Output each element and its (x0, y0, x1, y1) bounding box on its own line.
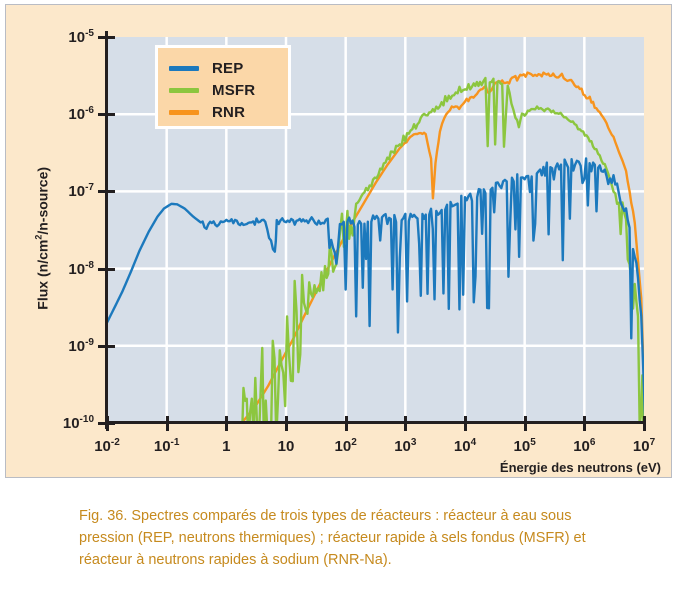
x-axis-tick-label: 10-1 (154, 437, 180, 455)
legend-item-rep[interactable]: REP (158, 57, 288, 79)
y-tick-mantissa: 10 (68, 29, 85, 46)
x-tick-exponent: 4 (471, 437, 477, 448)
x-axis-tick (643, 416, 646, 431)
curve-rep (107, 158, 644, 423)
chart-panel: 10-510-610-710-810-910-10 10-210-1110102… (5, 4, 672, 478)
y-tick-exponent: -7 (85, 182, 94, 193)
y-axis-tick-label: 10-6 (68, 105, 94, 123)
legend-label: REP (212, 60, 243, 77)
y-axis-title-exponent: 2 (34, 235, 44, 240)
x-tick-mantissa: 10 (633, 438, 650, 455)
legend-color-swatch (169, 66, 199, 71)
y-tick-exponent: -6 (85, 105, 94, 116)
y-tick-mantissa: 10 (68, 261, 85, 278)
y-tick-exponent: -9 (85, 337, 94, 348)
y-tick-exponent: -5 (85, 28, 94, 39)
y-axis-tick (98, 113, 115, 116)
x-axis-tick (583, 416, 586, 431)
x-axis-tick-label: 1 (222, 437, 230, 455)
x-axis-tick (285, 416, 288, 431)
x-tick-mantissa: 10 (514, 438, 531, 455)
x-axis-tick (524, 416, 527, 431)
x-tick-mantissa: 10 (154, 438, 171, 455)
x-axis-tick (225, 416, 228, 431)
y-axis-tick (98, 36, 115, 39)
x-axis-tick-label: 10 (278, 437, 295, 455)
y-axis-line (105, 31, 108, 429)
legend-label: RNR (212, 104, 245, 121)
y-tick-mantissa: 10 (63, 415, 80, 432)
x-axis-tick-label: 10-2 (94, 437, 120, 455)
y-axis-title-text: Flux (n/cm (34, 240, 50, 310)
legend-color-swatch (169, 110, 199, 115)
y-axis-tick-label: 10-10 (63, 414, 94, 432)
x-axis-tick (345, 416, 348, 431)
x-tick-mantissa: 10 (394, 438, 411, 455)
y-axis-tick-label: 10-9 (68, 337, 94, 355)
x-axis-tick (106, 416, 109, 431)
x-axis-tick (464, 416, 467, 431)
x-tick-mantissa: 10 (573, 438, 590, 455)
x-tick-exponent: -2 (111, 437, 120, 448)
x-tick-mantissa: 10 (454, 438, 471, 455)
y-tick-mantissa: 10 (68, 338, 85, 355)
x-axis-tick (404, 416, 407, 431)
x-tick-mantissa: 10 (335, 438, 352, 455)
y-tick-exponent: -8 (85, 260, 94, 271)
x-tick-mantissa: 1 (222, 438, 230, 455)
x-tick-mantissa: 10 (94, 438, 111, 455)
legend-item-rnr[interactable]: RNR (158, 101, 288, 123)
y-axis-tick (98, 268, 115, 271)
y-tick-mantissa: 10 (68, 183, 85, 200)
y-axis-tick (98, 190, 115, 193)
y-tick-mantissa: 10 (68, 106, 85, 123)
x-axis-tick-label: 104 (454, 437, 476, 455)
chart-legend: REPMSFRRNR (155, 45, 291, 129)
x-axis-tick (166, 416, 169, 431)
x-tick-mantissa: 10 (278, 438, 295, 455)
x-axis-tick-label: 107 (633, 437, 655, 455)
y-axis-tick (98, 345, 115, 348)
figure-caption: Fig. 36. Spectres comparés de trois type… (79, 505, 599, 571)
x-tick-exponent: 5 (530, 437, 536, 448)
y-axis-title-tail: /n-source) (34, 167, 50, 235)
legend-item-msfr[interactable]: MSFR (158, 79, 288, 101)
legend-label: MSFR (212, 82, 255, 99)
x-axis-line (105, 421, 646, 424)
x-tick-exponent: 2 (351, 437, 357, 448)
x-tick-exponent: 6 (590, 437, 596, 448)
y-axis-tick-label: 10-7 (68, 182, 94, 200)
x-axis-tick-label: 106 (573, 437, 595, 455)
y-axis-title: Flux (n/cm2/n-source) (34, 108, 51, 368)
legend-color-swatch (169, 88, 199, 93)
x-tick-exponent: 3 (411, 437, 417, 448)
y-tick-exponent: -10 (80, 414, 94, 425)
x-axis-title: Énergie des neutrons (eV) (500, 460, 661, 475)
y-axis-tick-label: 10-8 (68, 260, 94, 278)
x-axis-tick-label: 105 (514, 437, 536, 455)
x-tick-exponent: -1 (171, 437, 180, 448)
figure-container: 10-510-610-710-810-910-10 10-210-1110102… (0, 0, 681, 613)
y-axis-tick-label: 10-5 (68, 28, 94, 46)
x-tick-exponent: 7 (650, 437, 656, 448)
x-axis-tick-label: 102 (335, 437, 357, 455)
x-axis-tick-label: 103 (394, 437, 416, 455)
